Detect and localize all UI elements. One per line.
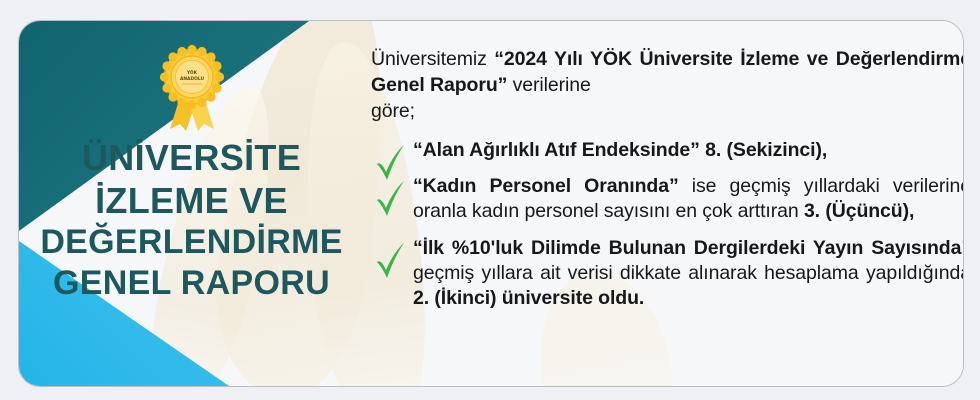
intro-last-line: göre;	[371, 99, 964, 125]
title-line-4: GENEL RAPORU	[27, 266, 357, 301]
item3-seg1: geçmiş yıllara ait verisi dikkate alınar…	[413, 262, 964, 284]
left-title-panel: YÖK ANADOLU ÜNİVERSİTE İZLEME VE DEĞERLE…	[19, 21, 364, 387]
announcement-card: YÖK ANADOLU ÜNİVERSİTE İZLEME VE DEĞERLE…	[18, 20, 964, 387]
intro-paragraph: Üniversitemiz “2024 Yılı YÖK Üniversite …	[371, 47, 964, 125]
item3-seg2: 2. (İkinci) üniversite oldu.	[413, 287, 644, 309]
achievement-list: “Alan Ağırlıklı Atıf Endeksinde” 8. (Sek…	[371, 138, 964, 312]
item2-seg0: “Kadın Personel Oranında”	[413, 175, 679, 197]
title-line-1: ÜNİVERSİTE	[27, 139, 357, 176]
green-check-icon	[373, 178, 407, 218]
item1-seg0: “Alan Ağırlıklı Atıf Endeksinde” 8. (Sek…	[413, 139, 827, 161]
list-item-text: “Kadın Personel Oranında” ise geçmiş yıl…	[413, 174, 964, 225]
list-item: “İlk %10'luk Dilimde Bulunan Dergilerdek…	[371, 236, 964, 312]
list-item: “Kadın Personel Oranında” ise geçmiş yıl…	[371, 174, 964, 225]
page-title: ÜNİVERSİTE İZLEME VE DEĞERLENDİRME GENEL…	[27, 139, 357, 301]
badge-line1: YÖK	[185, 69, 197, 76]
item3-seg0: “İlk %10'luk Dilimde Bulunan Dergilerdek…	[413, 237, 964, 259]
intro-pre: Üniversitemiz	[371, 48, 494, 70]
intro-post: verilerine	[507, 74, 590, 96]
green-check-icon	[373, 240, 407, 280]
item2-seg2: 3. (Üçüncü),	[804, 200, 914, 222]
badge-line2: ANADOLU	[179, 76, 203, 82]
award-ribbon-icon: YÖK ANADOLU	[156, 45, 228, 131]
list-item: “Alan Ağırlıklı Atıf Endeksinde” 8. (Sek…	[371, 138, 964, 163]
title-line-3: DEĞERLENDİRME	[27, 225, 357, 260]
right-content-panel: Üniversitemiz “2024 Yılı YÖK Üniversite …	[371, 47, 964, 387]
poster-canvas: YÖK ANADOLU ÜNİVERSİTE İZLEME VE DEĞERLE…	[0, 0, 980, 400]
list-item-text: “İlk %10'luk Dilimde Bulunan Dergilerdek…	[413, 236, 964, 312]
title-line-2: İZLEME VE	[27, 182, 357, 219]
list-item-text: “Alan Ağırlıklı Atıf Endeksinde” 8. (Sek…	[413, 138, 964, 163]
